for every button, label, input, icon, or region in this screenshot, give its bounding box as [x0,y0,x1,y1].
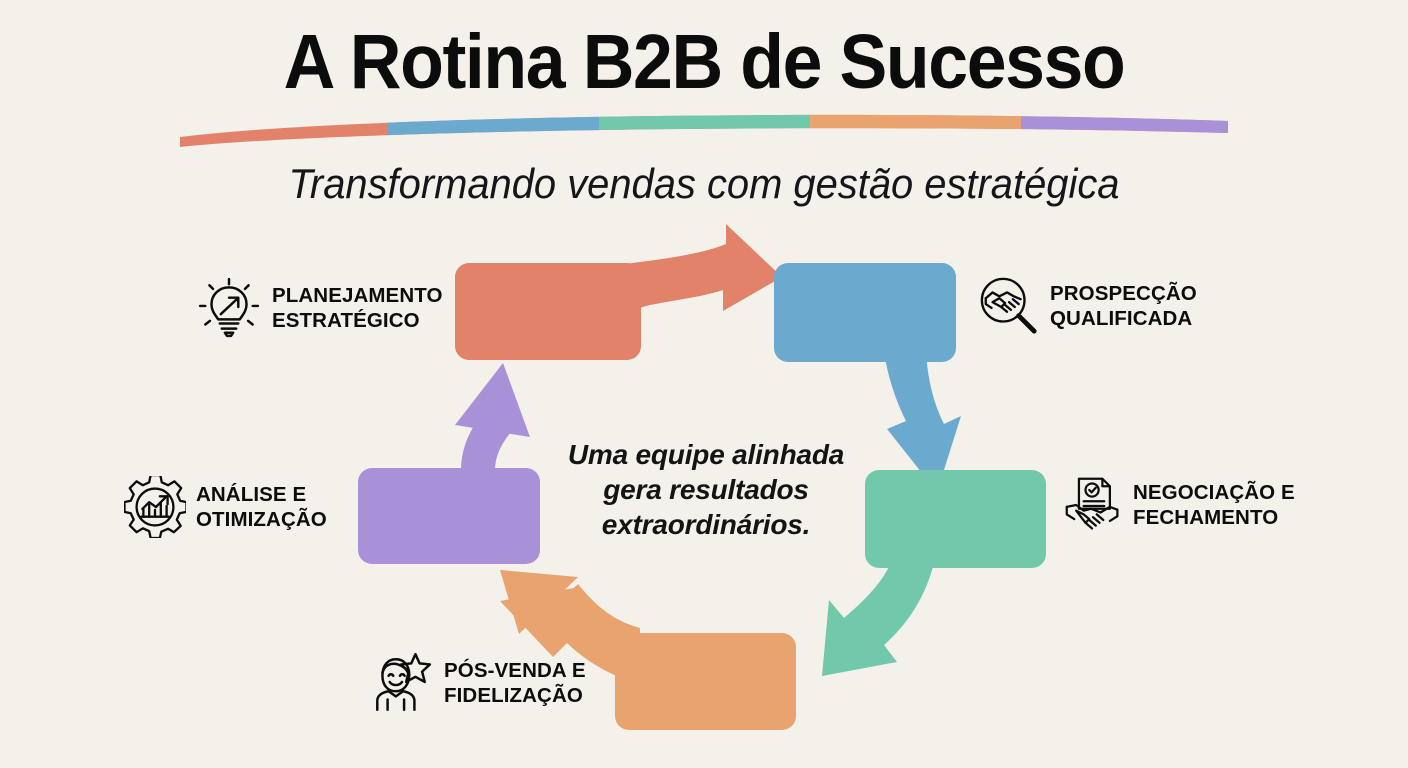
stage-label-prospeccao[interactable]: PROSPECÇÃO QUALIFICADA [978,275,1197,337]
arrow-analise-to-planejamento-head [455,363,530,437]
happy-customer-star-icon [368,650,434,716]
stage-box-planejamento[interactable] [455,263,641,360]
infographic-canvas: A Rotina B2B de Sucesso Transformando ve… [0,0,1408,768]
stage-label-text: ANÁLISE E OTIMIZAÇÃO [196,482,327,532]
stage-box-analise[interactable] [358,468,540,564]
stage-box-prospeccao[interactable] [774,263,956,362]
stage-box-posvenda[interactable] [615,633,796,730]
stage-box-negociacao[interactable] [865,470,1046,568]
stage-label-text: PLANEJAMENTO ESTRATÉGICO [272,283,443,333]
cycle-diagram [0,0,1408,768]
stage-label-analise[interactable]: ANÁLISE E OTIMIZAÇÃO [124,476,327,538]
lightbulb-arrow-icon [196,275,262,341]
stage-label-text: PÓS-VENDA E FIDELIZAÇÃO [444,658,586,708]
stage-label-planejamento[interactable]: PLANEJAMENTO ESTRATÉGICO [196,275,443,341]
stage-label-text: PROSPECÇÃO QUALIFICADA [1050,281,1197,331]
magnifier-handshake-icon [978,275,1040,337]
contract-handshake-icon [1063,475,1123,535]
center-quote: Uma equipe alinhada gera resultados extr… [556,437,856,542]
gear-chart-icon [124,476,186,538]
stage-label-text: NEGOCIAÇÃO E FECHAMENTO [1133,480,1295,530]
stage-label-posvenda[interactable]: PÓS-VENDA E FIDELIZAÇÃO [368,650,586,716]
stage-label-negociacao[interactable]: NEGOCIAÇÃO E FECHAMENTO [1063,475,1295,535]
arrow-negociacao-to-posvenda [822,558,935,676]
